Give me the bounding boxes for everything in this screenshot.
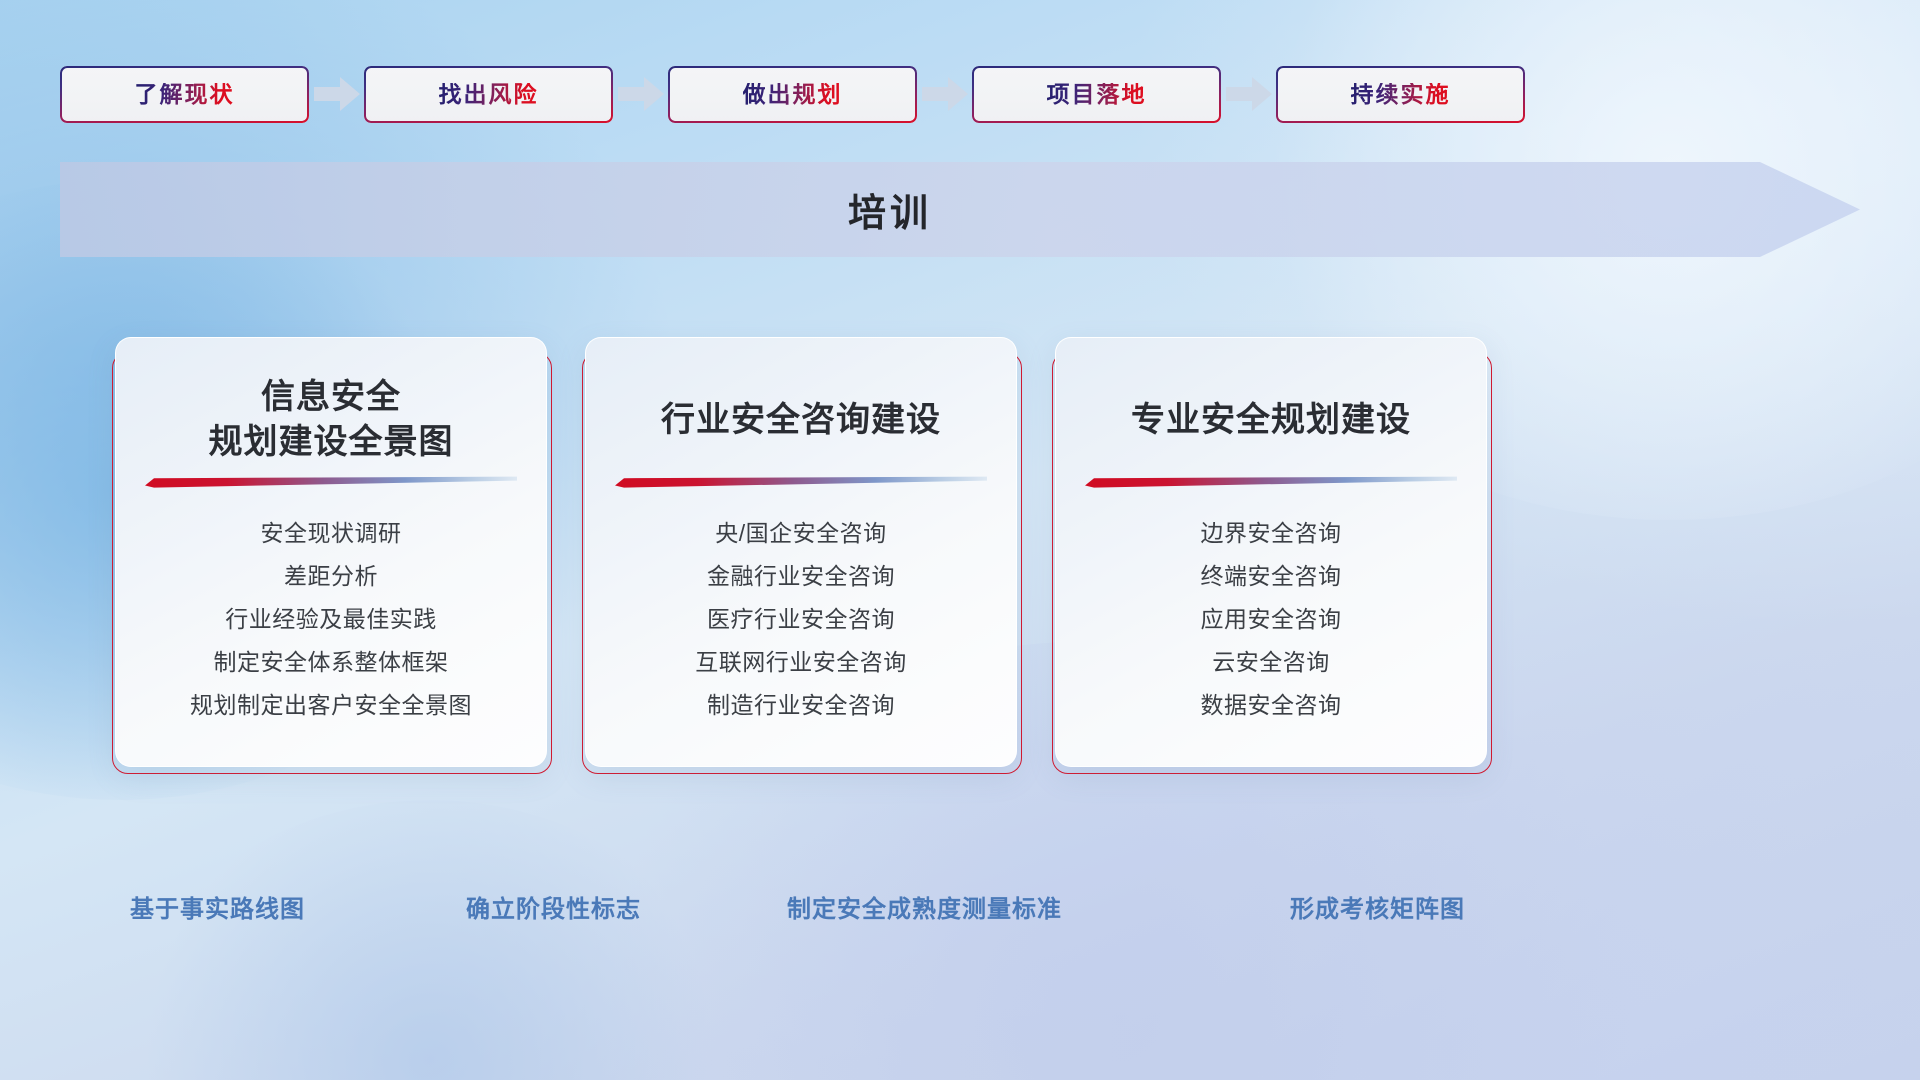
list-item: 终端安全咨询 bbox=[1078, 555, 1464, 598]
card-title-line2: 规划建设全景图 bbox=[209, 420, 454, 465]
step-label-5: 持续实施 bbox=[1351, 83, 1451, 106]
card-title-line1: 行业安全咨询建设 bbox=[661, 398, 941, 443]
list-item: 制造行业安全咨询 bbox=[608, 684, 994, 727]
slide-canvas: 了解现状 找出风险 做出规划 项目落地 bbox=[0, 0, 1920, 1080]
list-item: 云安全咨询 bbox=[1078, 641, 1464, 684]
right-arrow-icon bbox=[917, 66, 972, 123]
step-box-1[interactable]: 了解现状 bbox=[60, 66, 309, 123]
step-box-4[interactable]: 项目落地 bbox=[972, 66, 1221, 123]
background-blob-bottomleft bbox=[120, 800, 740, 1080]
band-title: 培训 bbox=[60, 162, 1860, 257]
list-item: 边界安全咨询 bbox=[1078, 512, 1464, 555]
card-title-line1: 信息安全 bbox=[209, 375, 454, 420]
right-arrow-icon bbox=[309, 66, 364, 123]
list-item: 规划制定出客户安全全景图 bbox=[138, 684, 524, 727]
card-item-list: 央/国企安全咨询 金融行业安全咨询 医疗行业安全咨询 互联网行业安全咨询 制造行… bbox=[608, 512, 994, 727]
caption-maturity: 制定安全成熟度测量标准 bbox=[787, 885, 1062, 935]
gradient-rule-icon bbox=[145, 476, 517, 488]
list-item: 互联网行业安全咨询 bbox=[608, 641, 994, 684]
process-step-row: 了解现状 找出风险 做出规划 项目落地 bbox=[60, 65, 1860, 123]
gradient-rule-icon bbox=[1085, 476, 1457, 488]
step-label-4: 项目落地 bbox=[1047, 83, 1147, 106]
card-title: 专业安全规划建设 bbox=[1131, 372, 1411, 468]
right-arrow-icon bbox=[1221, 66, 1276, 123]
step-box-5[interactable]: 持续实施 bbox=[1276, 66, 1525, 123]
caption-milestone: 确立阶段性标志 bbox=[466, 885, 641, 935]
list-item: 金融行业安全咨询 bbox=[608, 555, 994, 598]
step-box-2[interactable]: 找出风险 bbox=[364, 66, 613, 123]
list-item: 医疗行业安全咨询 bbox=[608, 598, 994, 641]
step-label-1: 了解现状 bbox=[135, 83, 235, 106]
card-title: 行业安全咨询建设 bbox=[661, 372, 941, 468]
step-box-3[interactable]: 做出规划 bbox=[668, 66, 917, 123]
caption-roadmap: 基于事实路线图 bbox=[130, 885, 305, 935]
step-label-2: 找出风险 bbox=[439, 83, 539, 106]
card-item-list: 安全现状调研 差距分析 行业经验及最佳实践 制定安全体系整体框架 规划制定出客户… bbox=[138, 512, 524, 727]
list-item: 差距分析 bbox=[138, 555, 524, 598]
card-professional-security-planning[interactable]: 专业安全规划建设 bbox=[1055, 337, 1487, 767]
list-item: 应用安全咨询 bbox=[1078, 598, 1464, 641]
card-title: 信息安全 规划建设全景图 bbox=[209, 372, 454, 468]
step-label-3: 做出规划 bbox=[743, 83, 843, 106]
training-band: 培训 bbox=[60, 162, 1860, 257]
card-information-security-panorama[interactable]: 信息安全 规划建设全景图 bbox=[115, 337, 547, 767]
gradient-rule-icon bbox=[615, 476, 987, 488]
card-title-line1: 专业安全规划建设 bbox=[1131, 398, 1411, 443]
card-industry-security-consulting[interactable]: 行业安全咨询建设 bbox=[585, 337, 1017, 767]
caption-matrix: 形成考核矩阵图 bbox=[1290, 885, 1465, 935]
list-item: 安全现状调研 bbox=[138, 512, 524, 555]
card-row: 信息安全 规划建设全景图 bbox=[0, 337, 1920, 767]
caption-row: 基于事实路线图 确立阶段性标志 制定安全成熟度测量标准 形成考核矩阵图 bbox=[0, 885, 1920, 935]
list-item: 行业经验及最佳实践 bbox=[138, 598, 524, 641]
list-item: 制定安全体系整体框架 bbox=[138, 641, 524, 684]
card-item-list: 边界安全咨询 终端安全咨询 应用安全咨询 云安全咨询 数据安全咨询 bbox=[1078, 512, 1464, 727]
right-arrow-icon bbox=[613, 66, 668, 123]
list-item: 数据安全咨询 bbox=[1078, 684, 1464, 727]
list-item: 央/国企安全咨询 bbox=[608, 512, 994, 555]
